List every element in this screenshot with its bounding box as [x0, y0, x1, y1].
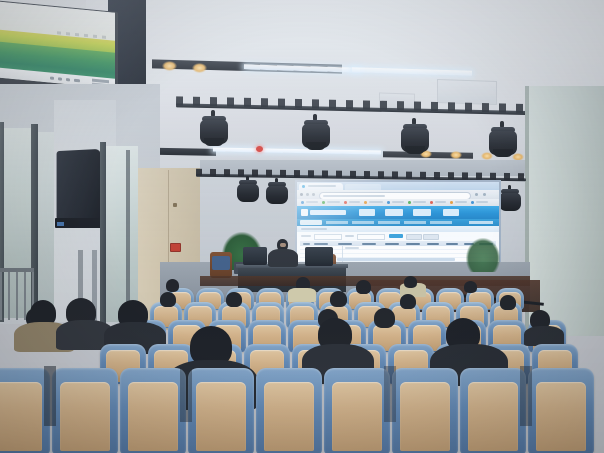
auditorium-scene: 16:58 — [0, 0, 604, 453]
vignette — [0, 0, 604, 453]
